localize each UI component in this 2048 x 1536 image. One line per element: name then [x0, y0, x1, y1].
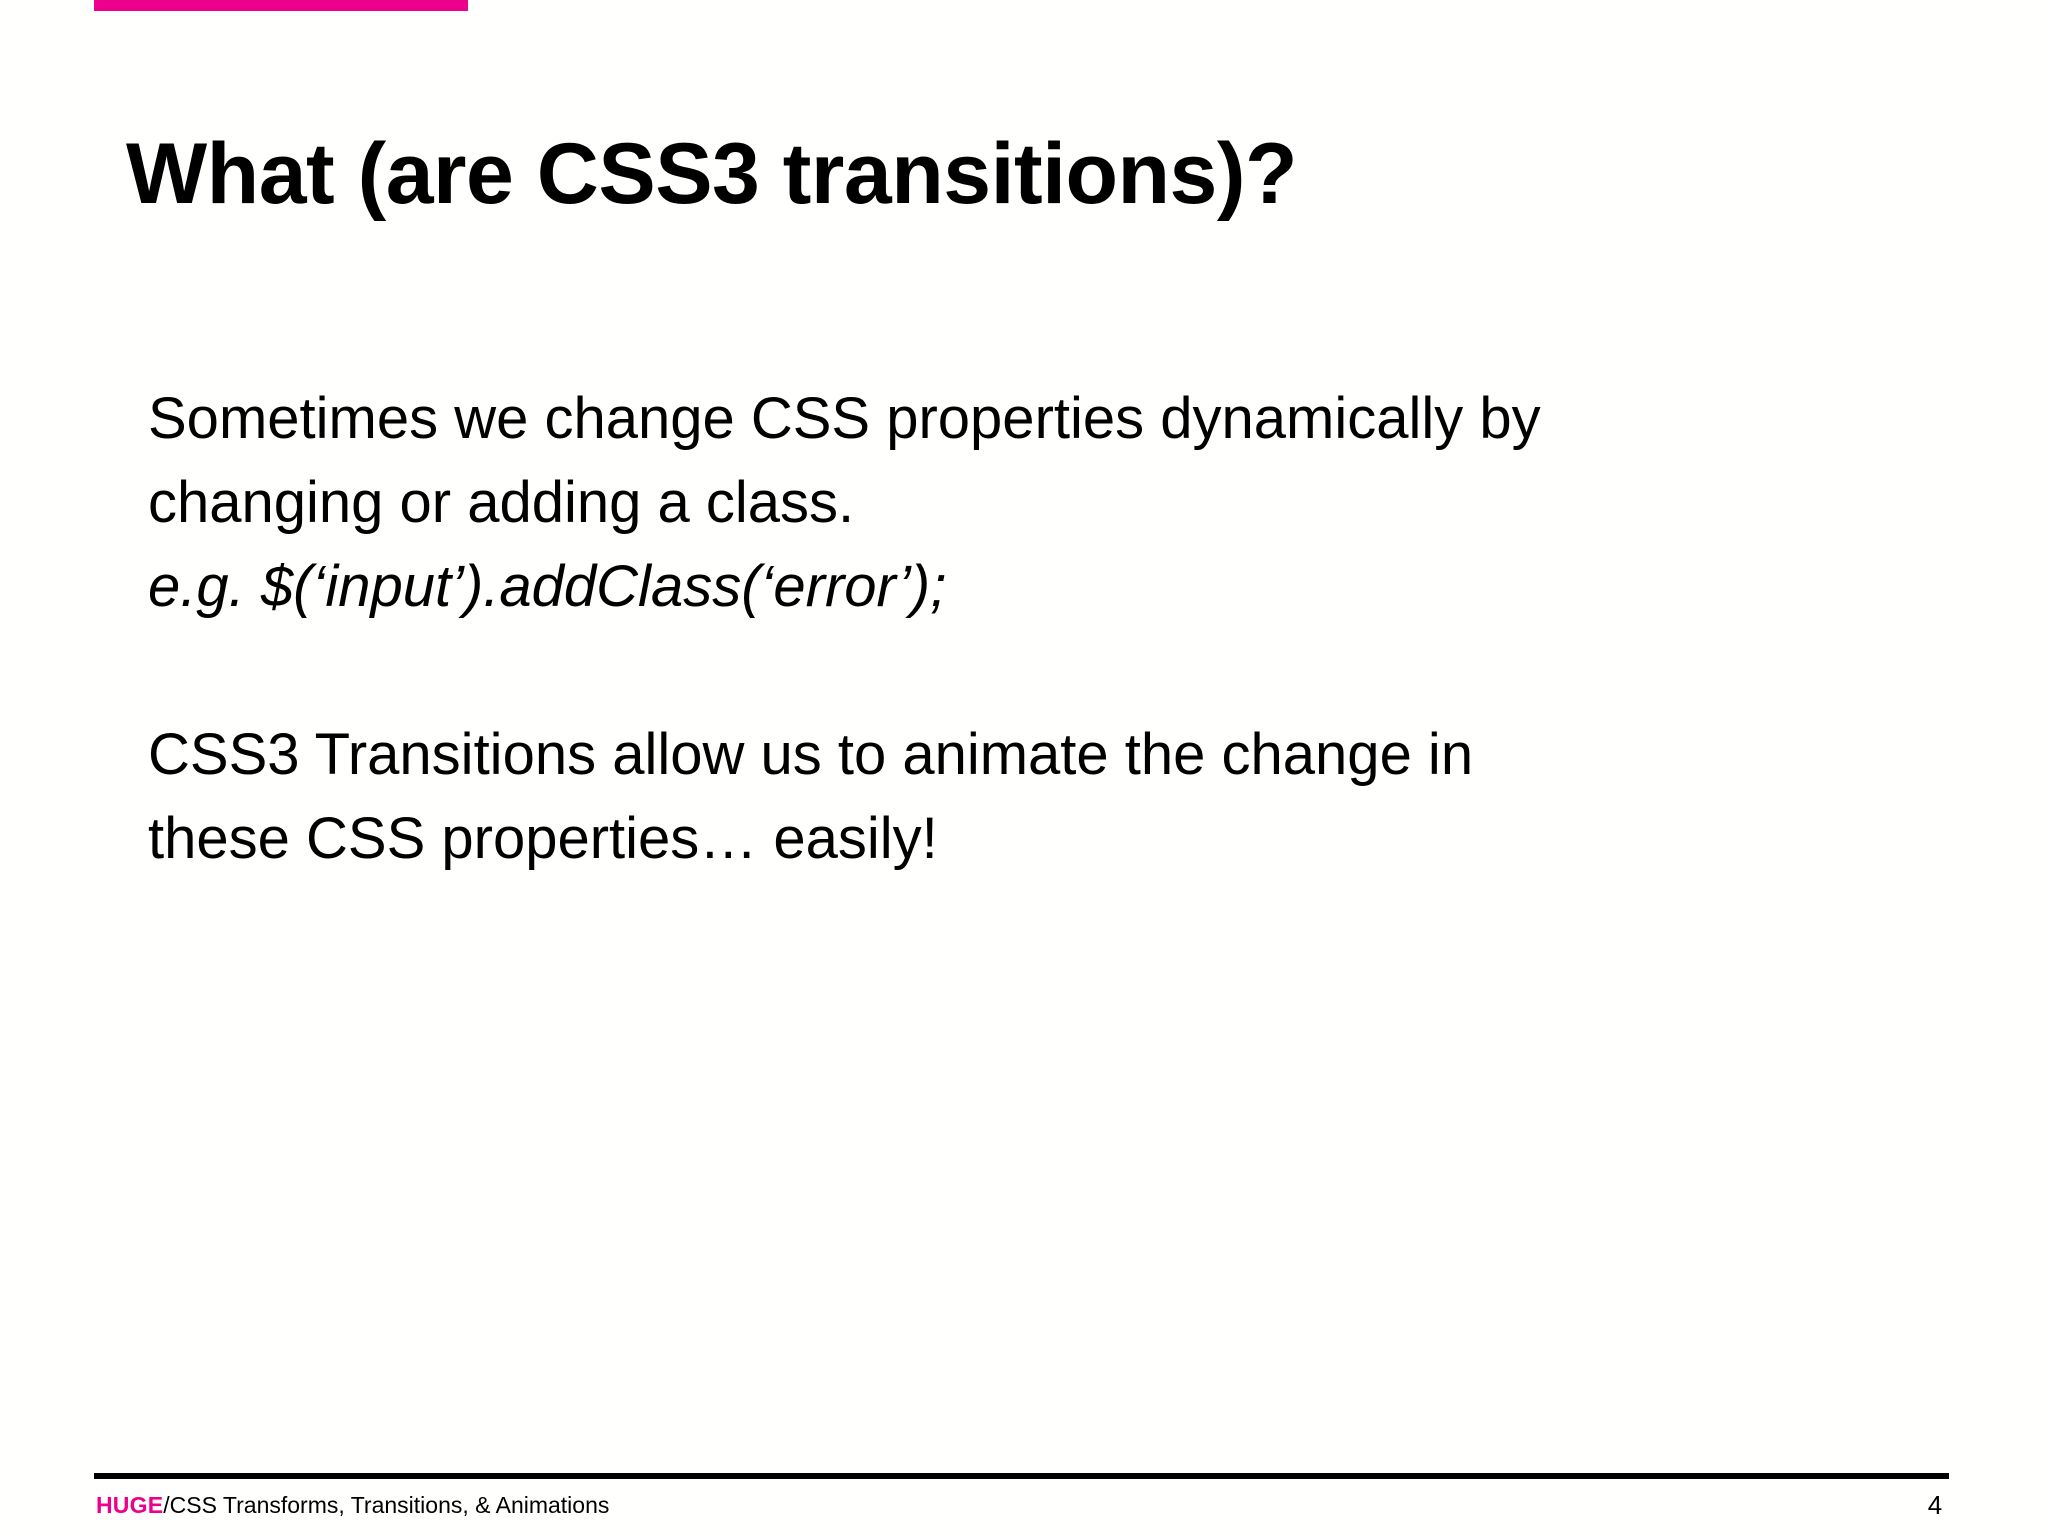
footer: HUGE/CSS Transforms, Transitions, & Anim… [96, 1490, 609, 1520]
body-line-2: changing or adding a class. [148, 461, 1908, 545]
page-number: 4 [1905, 1489, 1965, 1521]
top-accent-bar [94, 0, 468, 11]
slide-canvas: What (are CSS3 transitions)? Sometimes w… [0, 0, 2048, 1536]
body-line-example-code: e.g. $(‘input’).addClass(‘error’); [148, 545, 1908, 629]
slide-body: Sometimes we change CSS properties dynam… [148, 377, 1908, 881]
footer-subject: CSS Transforms, Transitions, & Animation… [170, 1492, 610, 1518]
footer-divider [94, 1473, 1949, 1479]
body-line-4: these CSS properties… easily! [148, 797, 1908, 881]
body-line-3: CSS3 Transitions allow us to animate the… [148, 713, 1908, 797]
page-title: What (are CSS3 transitions)? [126, 131, 1926, 219]
body-spacer [148, 629, 1908, 713]
body-line-1: Sometimes we change CSS properties dynam… [148, 377, 1908, 461]
brand-logo-huge: HUGE [96, 1492, 163, 1518]
